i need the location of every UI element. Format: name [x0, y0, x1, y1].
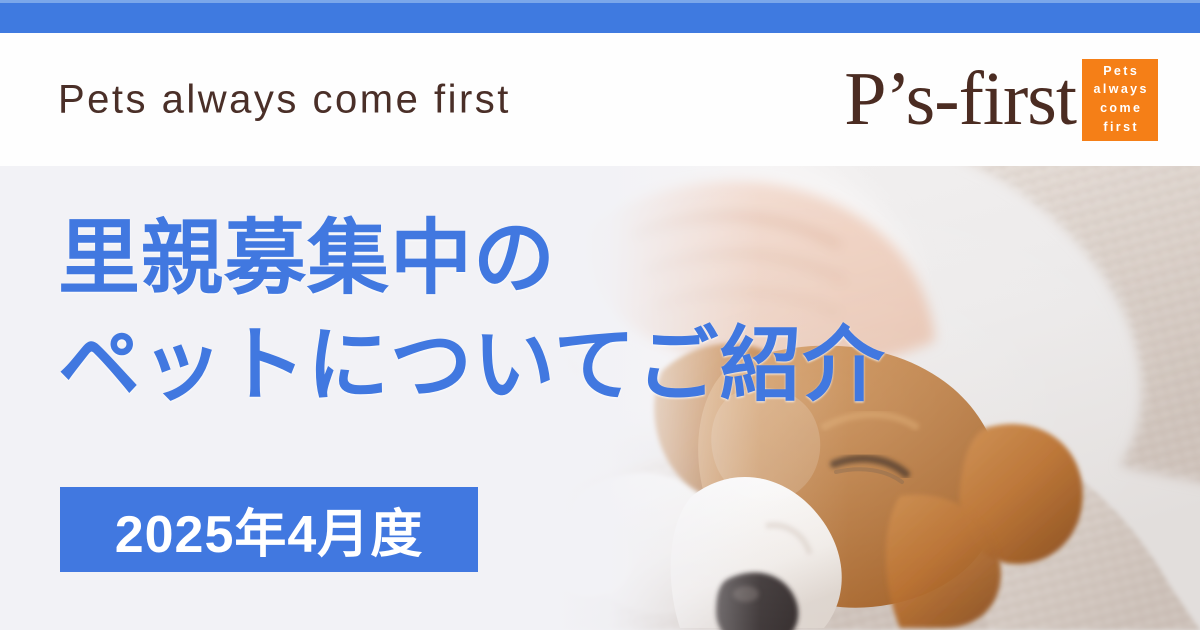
logo-wordmark: P’s-first [844, 63, 1076, 135]
site-header: Pets always come first P’s-first Pets al… [0, 33, 1200, 166]
logo-orange-tag: Pets always come first [1082, 59, 1158, 141]
top-accent-bar [0, 0, 1200, 33]
hero-headline-line-2: ペットについてご紹介 [58, 313, 886, 420]
hero-headline-line-1: 里親募集中の [58, 206, 886, 313]
logo-tag-line-2: always [1091, 81, 1149, 99]
logo-tag-line-1: Pets [1101, 63, 1139, 81]
brand-logo[interactable]: P’s-first Pets always come first [844, 59, 1158, 141]
banner: Pets always come first P’s-first Pets al… [0, 0, 1200, 630]
header-tagline: Pets always come first [58, 77, 511, 122]
logo-tag-line-4: first [1101, 119, 1139, 137]
top-accent-bar-highlight [0, 0, 1200, 3]
date-badge: 2025年4月度 [60, 487, 478, 572]
logo-tag-line-3: come [1098, 100, 1143, 118]
date-badge-label: 2025年4月度 [115, 492, 424, 567]
hero-headline: 里親募集中の ペットについてご紹介 [58, 206, 886, 419]
